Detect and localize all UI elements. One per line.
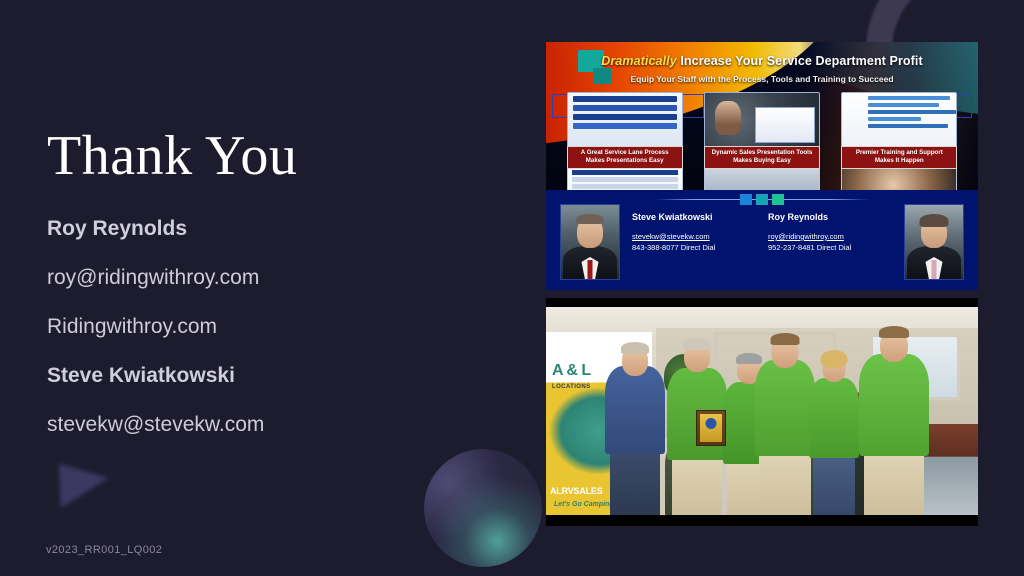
promo-card: A Great Service Lane Process Makes Prese…	[567, 92, 683, 190]
promo-card: Dynamic Sales Presentation Tools Makes B…	[704, 92, 820, 190]
promo-card-caption-line2: Makes Buying Easy	[707, 157, 817, 165]
sphere-decoration	[424, 449, 542, 567]
promo-card-caption-line1: A Great Service Lane Process	[570, 149, 680, 157]
version-code: v2023_RR001_LQ002	[46, 544, 162, 556]
promo-card-caption: A Great Service Lane Process Makes Prese…	[567, 146, 683, 169]
contact-list: Roy Reynolds roy@ridingwithroy.com Ridin…	[47, 218, 467, 463]
team-photo-scene: A & L LOCATIONS ALRVSALES Let's Go Campi…	[546, 306, 978, 516]
list-item: stevekw@stevekw.com	[47, 414, 467, 435]
promo-card-caption-line1: Premier Training and Support	[844, 149, 954, 157]
list-item: roy@ridingwithroy.com	[47, 267, 467, 288]
promo-subheadline: Equip Your Staff with the Process, Tools…	[546, 74, 978, 84]
cone-decoration	[47, 464, 109, 519]
list-item: Ridingwithroy.com	[47, 316, 467, 337]
contact-name: Steve Kwiatkowski	[632, 212, 715, 222]
media-stack: Dramatically Increase Your Service Depar…	[546, 42, 978, 526]
page-title: Thank You	[47, 126, 297, 188]
promo-card-caption-line2: Makes Presentations Easy	[570, 157, 680, 165]
promo-contact-roy: Roy Reynolds roy@ridingwithroy.com 952-2…	[768, 212, 851, 252]
team-members	[546, 350, 978, 516]
team-member	[808, 360, 860, 516]
team-group-photo: A & L LOCATIONS ALRVSALES Let's Go Campi…	[546, 298, 978, 526]
award-plaque	[696, 410, 726, 446]
letterbox-bottom	[546, 515, 978, 526]
ring-decoration-mask	[974, 56, 1024, 176]
promo-card-image	[704, 92, 820, 148]
promo-flyer-image: Dramatically Increase Your Service Depar…	[546, 42, 978, 290]
thank-you-slide: Thank You Roy Reynolds roy@ridingwithroy…	[0, 0, 1024, 576]
promo-headline: Dramatically Increase Your Service Depar…	[546, 54, 978, 68]
promo-card: Premier Training and Support Makes It Ha…	[841, 92, 957, 190]
team-member	[858, 340, 930, 516]
promo-card-footer	[704, 168, 820, 190]
headshot-roy	[904, 204, 964, 280]
promo-contact-steve: Steve Kwiatkowski stevekw@stevekw.com 84…	[632, 212, 715, 252]
list-item: Steve Kwiatkowski	[47, 365, 467, 386]
plaque-seal	[706, 418, 717, 429]
promo-card-caption: Dynamic Sales Presentation Tools Makes B…	[704, 146, 820, 169]
headshot-steve	[560, 204, 620, 280]
list-item: Roy Reynolds	[47, 218, 467, 239]
team-member	[604, 350, 666, 516]
promo-hero-band: Dramatically Increase Your Service Depar…	[546, 42, 978, 190]
promo-card-caption-line1: Dynamic Sales Presentation Tools	[707, 149, 817, 157]
promo-card-image	[567, 92, 683, 148]
promo-card-row: A Great Service Lane Process Makes Prese…	[546, 92, 978, 190]
promo-card-footer	[567, 168, 683, 190]
contact-name: Roy Reynolds	[768, 212, 851, 222]
promo-card-image	[841, 92, 957, 148]
team-member	[754, 344, 816, 516]
promo-card-footer	[841, 168, 957, 190]
promo-headline-rest: Increase Your Service Department Profit	[677, 54, 923, 68]
contact-phone: 952-237-8481 Direct Dial	[768, 243, 851, 252]
contact-email-link[interactable]: roy@ridingwithroy.com	[768, 232, 851, 241]
contact-email-link[interactable]: stevekw@stevekw.com	[632, 232, 715, 241]
promo-headline-emphasis: Dramatically	[601, 54, 677, 68]
contact-phone: 843-388-8077 Direct Dial	[632, 243, 715, 252]
letterbox-top	[546, 298, 978, 307]
promo-card-caption: Premier Training and Support Makes It Ha…	[841, 146, 957, 169]
promo-card-caption-line2: Makes It Happen	[844, 157, 954, 165]
promo-contact-band: Steve Kwiatkowski stevekw@stevekw.com 84…	[546, 190, 978, 290]
